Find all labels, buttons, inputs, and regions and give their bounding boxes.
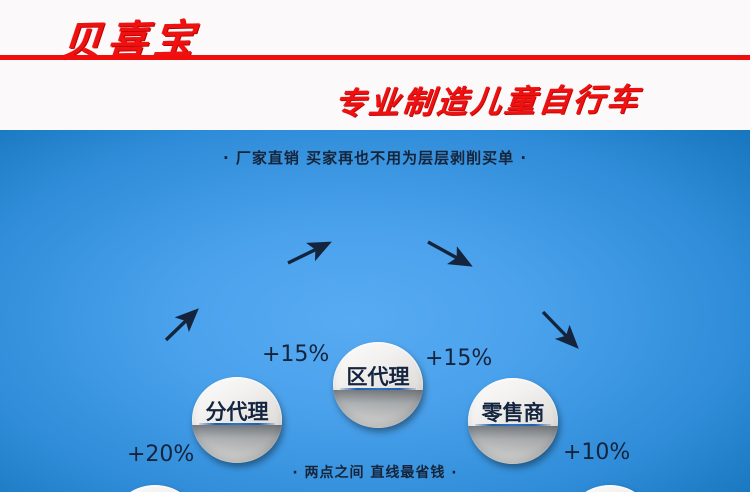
node-sub-agent[interactable]: 分代理 [192,377,282,463]
promo-banner: 贝喜宝 专业制造儿童自行车 · 厂家直销 买家再也不用为层层剥削买单 · [0,0,750,492]
caption-bottom: · 两点之间 直线最省钱 · [0,462,750,482]
direct-percent-label: +5% [300,488,376,492]
node-regional-agent-label: 区代理 [333,361,423,391]
node-retailer[interactable]: 零售商 [468,378,558,464]
arrow-lingshou-maijia [543,312,575,345]
arrow-layer [0,130,750,492]
node-gloss [192,425,282,463]
node-gloss [468,426,558,464]
percent-label-15-a: +15% [262,342,329,367]
percent-label-15-b: +15% [425,346,492,371]
arrow-changshang-fendaili [166,312,195,340]
node-regional-agent[interactable]: 区代理 [333,342,423,428]
arrow-qudaili-lingshou [428,242,468,264]
header: 贝喜宝 专业制造儿童自行车 [0,0,750,130]
node-sub-agent-label: 分代理 [192,396,282,426]
diagram-panel: · 厂家直销 买家再也不用为层层剥削买单 · +5% 厂 [0,130,750,492]
header-tagline: 专业制造儿童自行车 [332,74,643,123]
node-gloss [333,390,423,428]
header-divider [0,55,750,60]
node-retailer-label: 零售商 [468,397,558,427]
arrow-fendaili-qudaili [288,244,327,263]
